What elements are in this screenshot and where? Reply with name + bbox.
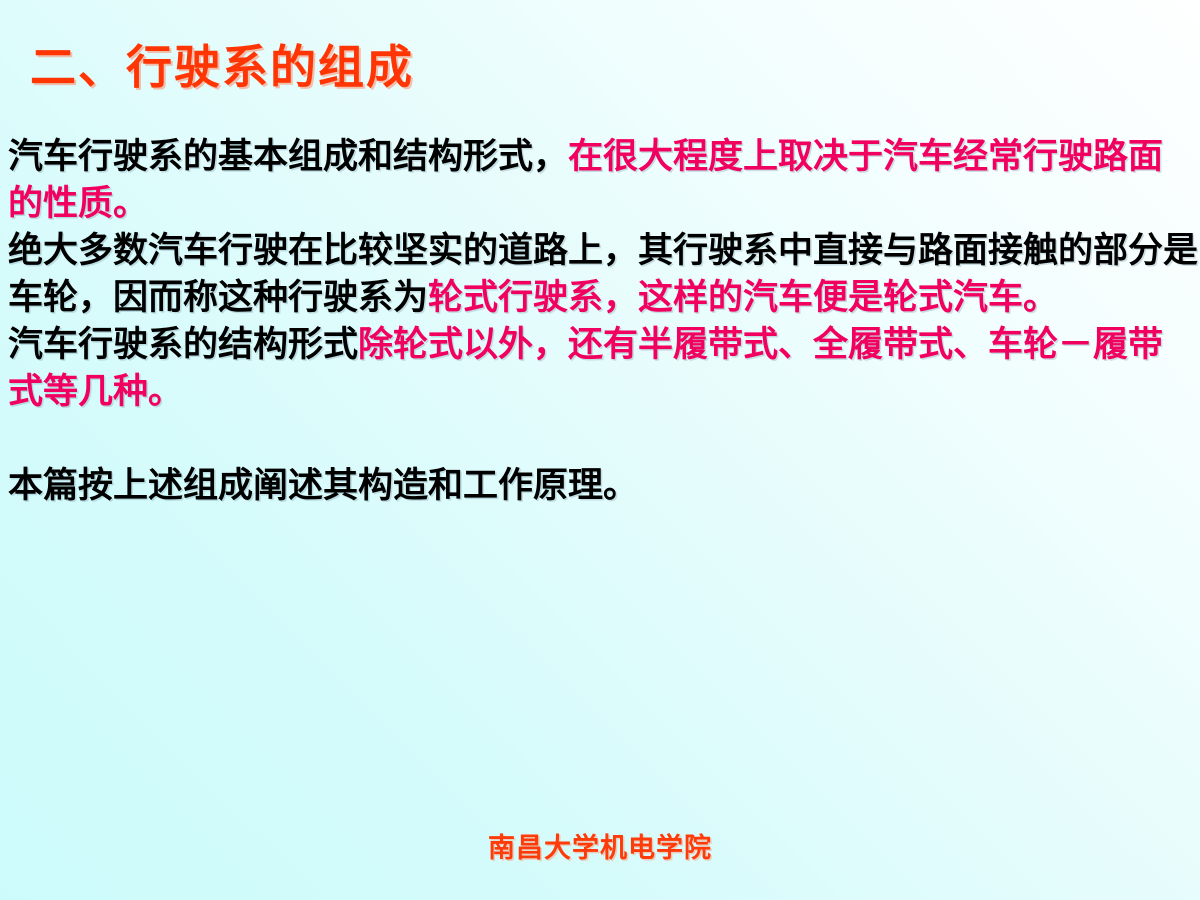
slide-footer: 南昌大学机电学院: [0, 826, 1200, 865]
body-paragraph-2: 绝大多数汽车行驶在比较坚实的道路上，其行驶系中直接与路面接触的部分是车轮，因而称…: [8, 227, 1198, 321]
body-paragraph-1: 汽车行驶系的基本组成和结构形式，在很大程度上取决于汽车经常行驶路面的性质。: [8, 133, 1198, 227]
body-paragraph-3: 汽车行驶系的结构形式除轮式以外，还有半履带式、全履带式、车轮－履带式等几种。: [8, 321, 1198, 415]
para-4-run-1: 本篇按上述组成阐述其构造和工作原理。: [8, 466, 638, 505]
slide-body: 汽车行驶系的基本组成和结构形式，在很大程度上取决于汽车经常行驶路面的性质。 绝大…: [8, 133, 1198, 509]
slide-canvas: 二、行驶系的组成 汽车行驶系的基本组成和结构形式，在很大程度上取决于汽车经常行驶…: [0, 0, 1200, 900]
para-1-run-1: 汽车行驶系的基本组成和结构形式，: [8, 137, 568, 176]
body-paragraph-4: 本篇按上述组成阐述其构造和工作原理。: [8, 462, 1198, 509]
para-3-run-1: 汽车行驶系的结构形式: [8, 325, 358, 364]
page-title: 二、行驶系的组成: [30, 39, 414, 97]
para-2-run-2: 轮式行驶系，这样的汽车便是轮式汽车。: [428, 278, 1058, 317]
paragraph-spacer: [8, 415, 1198, 462]
